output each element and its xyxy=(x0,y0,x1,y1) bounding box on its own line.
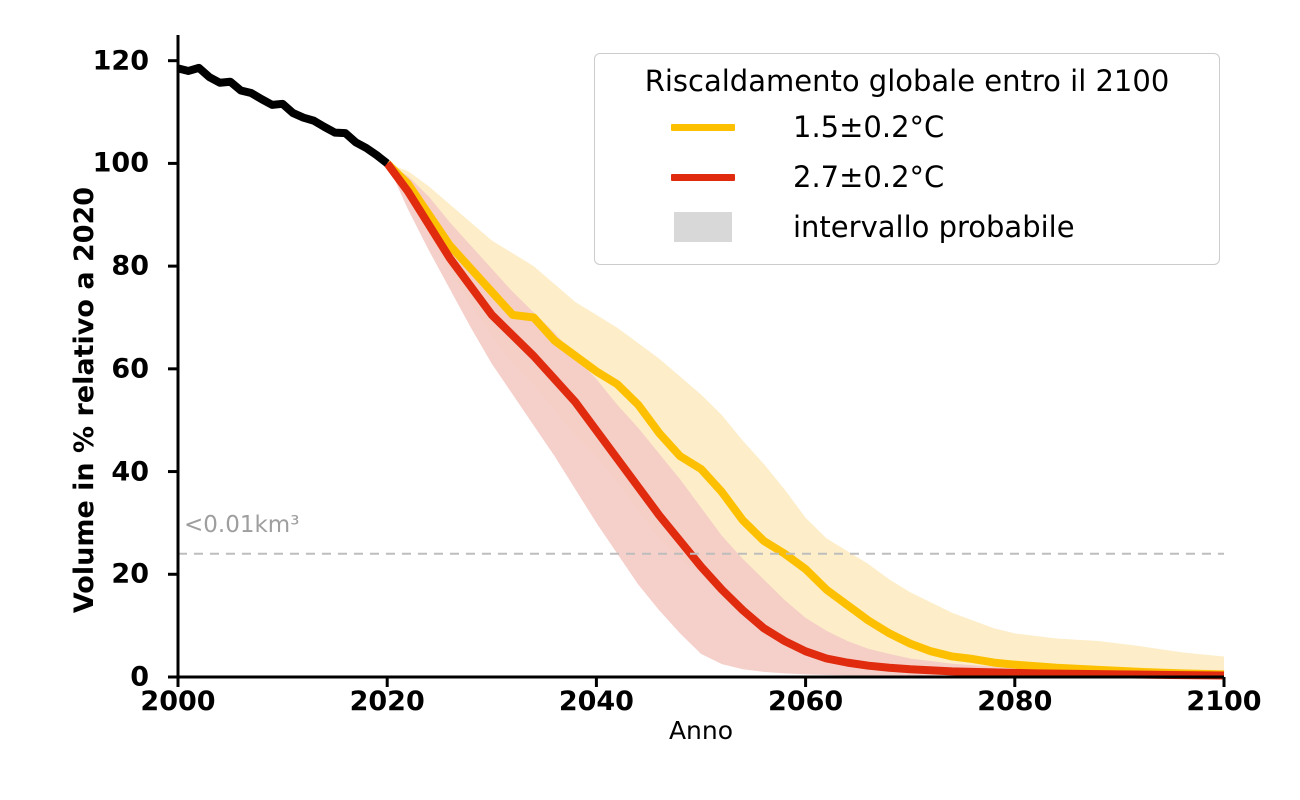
legend-label-red: 2.7±0.2°C xyxy=(793,160,944,194)
y-tick-label: 20 xyxy=(111,559,149,590)
chart-legend: Riscaldamento globale entro il 2100 1.5±… xyxy=(594,53,1220,265)
legend-line-swatch-yellow xyxy=(613,124,793,131)
legend-patch-swatch xyxy=(613,212,793,242)
chart-figure: Volume in % relativo a 2020 Anno 2000202… xyxy=(0,0,1300,800)
y-tick-label: 100 xyxy=(93,148,149,179)
x-tick-label: 2040 xyxy=(559,686,634,717)
x-tick-label: 2060 xyxy=(768,686,843,717)
x-tick-label: 2020 xyxy=(350,686,425,717)
legend-line-swatch-red xyxy=(613,174,793,181)
y-tick-label: 120 xyxy=(93,45,149,76)
x-axis-label: Anno xyxy=(178,716,1224,745)
legend-item-band: intervallo probabile xyxy=(613,202,1201,252)
threshold-annotation: <0.01km³ xyxy=(184,512,299,538)
legend-label-band: intervallo probabile xyxy=(793,210,1075,244)
x-tick-label: 2000 xyxy=(140,686,215,717)
legend-title: Riscaldamento globale entro il 2100 xyxy=(613,64,1201,98)
x-tick-label: 2100 xyxy=(1186,686,1261,717)
legend-item-yellow: 1.5±0.2°C xyxy=(613,102,1201,152)
legend-label-yellow: 1.5±0.2°C xyxy=(793,110,944,144)
x-tick-label: 2080 xyxy=(977,686,1052,717)
legend-item-red: 2.7±0.2°C xyxy=(613,152,1201,202)
y-tick-label: 0 xyxy=(130,662,149,693)
y-tick-label: 40 xyxy=(111,456,149,487)
y-tick-label: 60 xyxy=(111,353,149,384)
y-tick-label: 80 xyxy=(111,251,149,282)
